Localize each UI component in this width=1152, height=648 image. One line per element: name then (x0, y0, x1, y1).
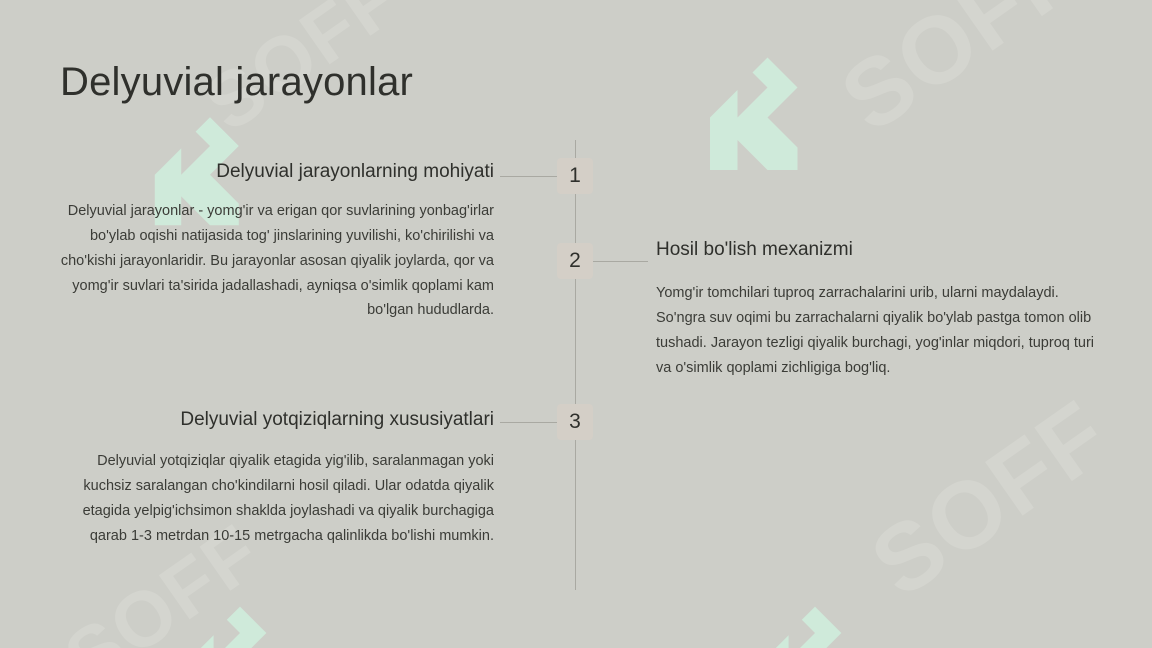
section-block-1: Delyuvial jarayonlarning mohiyati Delyuv… (54, 160, 494, 323)
timeline-marker-3[interactable]: 3 (557, 404, 593, 440)
section-heading-3: Delyuvial yotqiziqlarning xususiyatlari (54, 408, 494, 433)
timeline-axis (575, 140, 576, 590)
page-title: Delyuvial jarayonlar (60, 58, 413, 106)
section-body-3: Delyuvial yotqiziqlar qiyalik etagida yi… (54, 449, 494, 549)
section-body-1: Delyuvial jarayonlar - yomg'ir va erigan… (54, 199, 494, 324)
section-body-2: Yomg'ir tomchilari tuproq zarrachalarini… (656, 281, 1096, 381)
timeline-connector (500, 422, 557, 423)
timeline-marker-1[interactable]: 1 (557, 158, 593, 194)
section-block-2: Hosil bo'lish mexanizmi Yomg'ir tomchila… (656, 238, 1096, 380)
timeline-connector (500, 176, 557, 177)
section-heading-2: Hosil bo'lish mexanizmi (656, 238, 1096, 263)
timeline-marker-2[interactable]: 2 (557, 243, 593, 279)
slide-canvas: Delyuvial jarayonlar 1 2 3 Delyuvial jar… (0, 0, 1152, 648)
section-heading-1: Delyuvial jarayonlarning mohiyati (54, 160, 494, 185)
section-block-3: Delyuvial yotqiziqlarning xususiyatlari … (54, 408, 494, 548)
timeline-connector (593, 261, 648, 262)
